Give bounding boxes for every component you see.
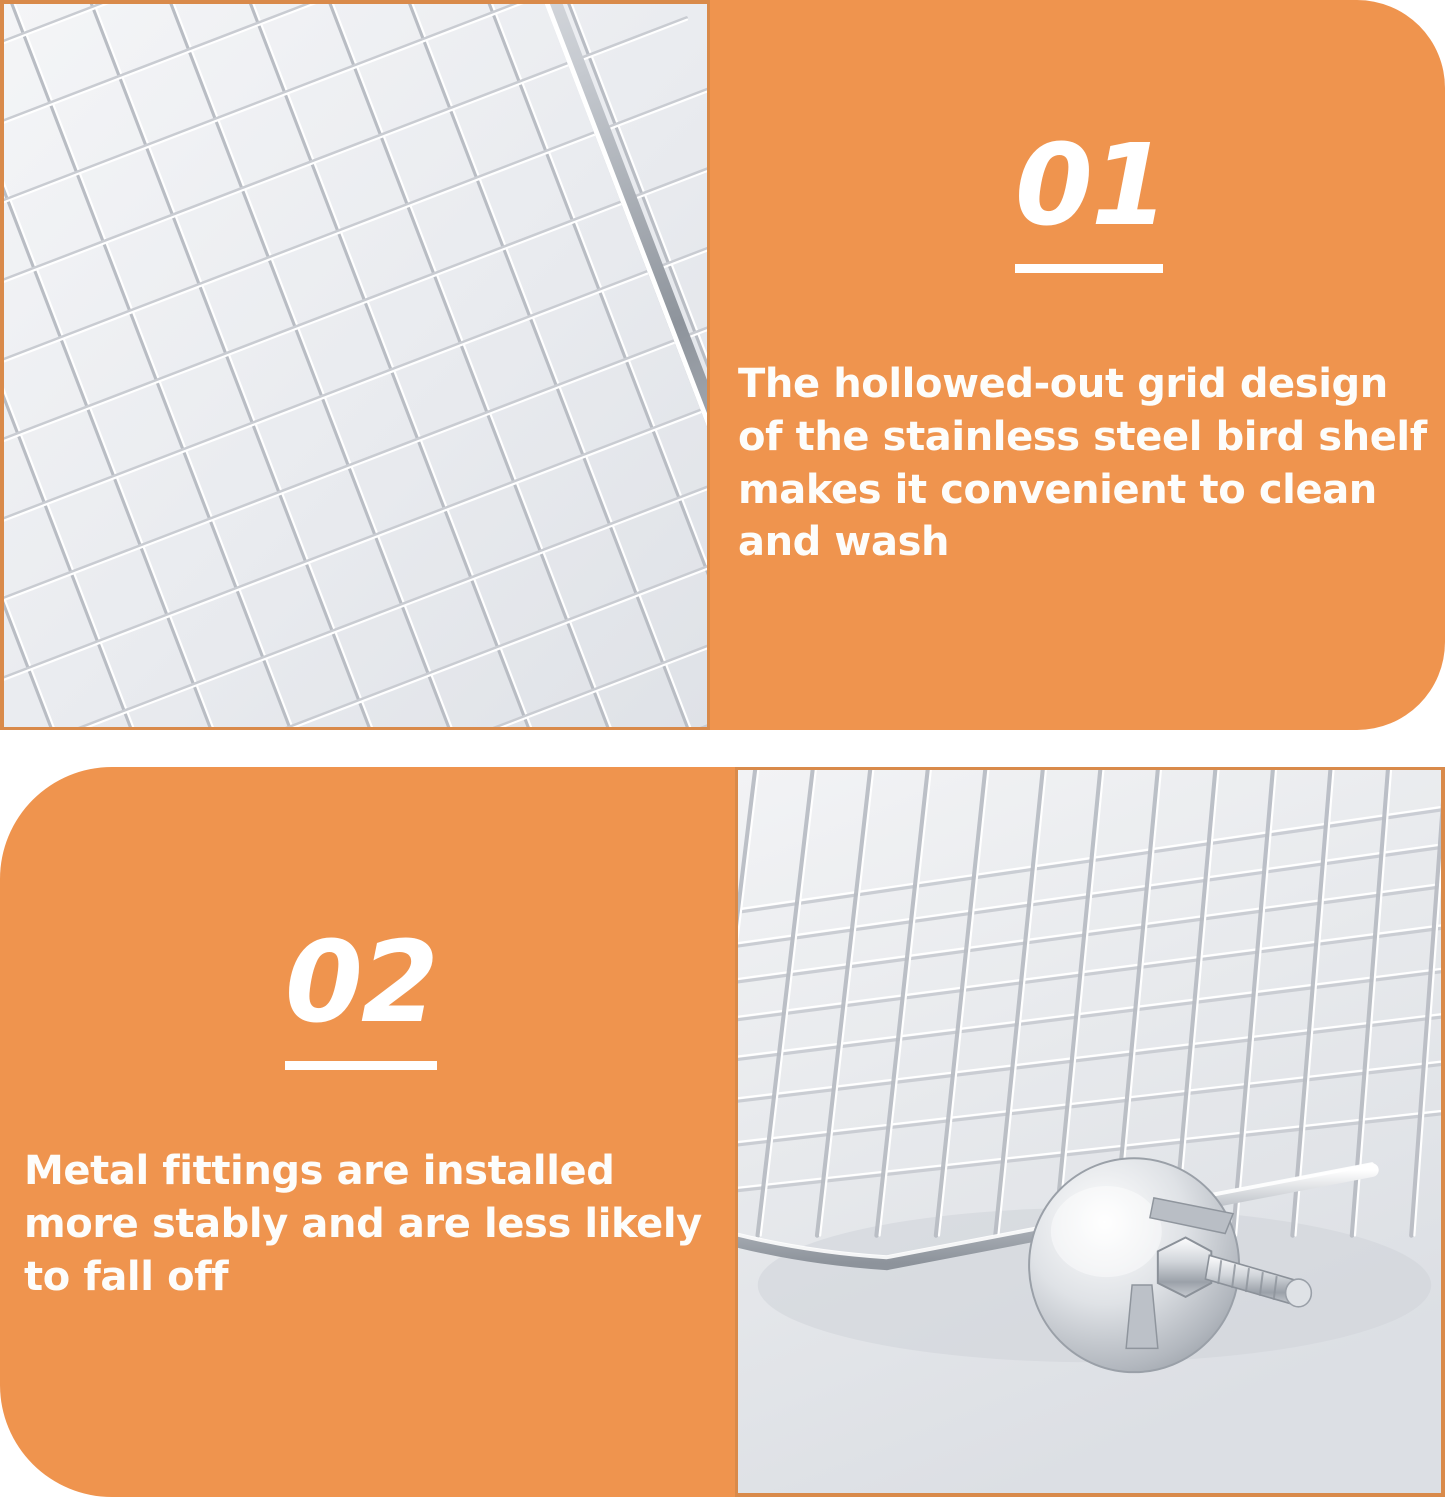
step-number-02: 02 [285, 927, 437, 1039]
step-number-01: 01 [1015, 130, 1167, 242]
step-number-underline-02 [285, 1061, 437, 1070]
step-number-block-02: 02 [285, 927, 437, 1070]
feature-text-panel-02: 02 Metal fittings are installed more sta… [0, 767, 735, 1497]
feature-row-01: 01 The hollowed-out grid design of the s… [0, 0, 1445, 730]
product-photo-mesh-grid [0, 0, 710, 730]
product-feature-infographic: 01 The hollowed-out grid design of the s… [0, 0, 1445, 1497]
step-number-underline-01 [1015, 264, 1163, 273]
step-number-block-01: 01 [1015, 130, 1167, 273]
product-photo-metal-fitting [735, 767, 1445, 1497]
feature-description-02: Metal fittings are installed more stably… [24, 1145, 729, 1303]
feature-text-panel-01: 01 The hollowed-out grid design of the s… [710, 0, 1445, 730]
feature-description-01: The hollowed-out grid design of the stai… [738, 358, 1438, 569]
mesh-with-bolt-illustration [738, 770, 1441, 1493]
mesh-grid-illustration [4, 4, 707, 727]
feature-row-02: 02 Metal fittings are installed more sta… [0, 767, 1445, 1497]
